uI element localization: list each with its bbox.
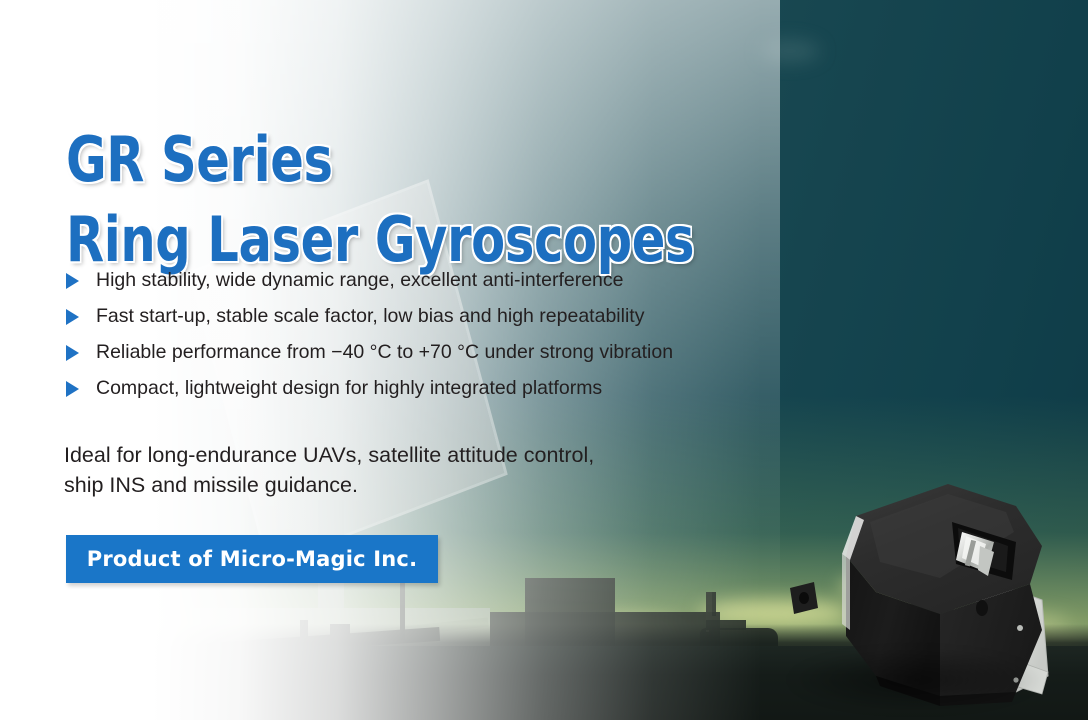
product-of-badge[interactable]: Product of Micro-Magic Inc. <box>66 535 438 583</box>
feature-list: High stability, wide dynamic range, exce… <box>66 268 766 412</box>
application-summary: Ideal for long-endurance UAVs, satellite… <box>64 440 594 500</box>
product-shadow <box>790 648 1040 712</box>
feature-text: Fast start-up, stable scale factor, low … <box>96 304 644 328</box>
product-banner: GR Series Ring Laser Gyroscopes High sta… <box>0 0 1088 720</box>
application-summary-line-2: ship INS and missile guidance. <box>64 473 358 497</box>
product-of-badge-label: Product of Micro-Magic Inc. <box>87 547 418 571</box>
product-image <box>780 480 1088 720</box>
headline-line-1: GR Series <box>66 123 333 196</box>
page-title: GR Series Ring Laser Gyroscopes <box>66 120 694 280</box>
feature-text: Reliable performance from −40 °C to +70 … <box>96 340 673 364</box>
triangle-right-icon <box>66 309 79 325</box>
triangle-right-icon <box>66 273 79 289</box>
triangle-right-icon <box>66 381 79 397</box>
feature-text: High stability, wide dynamic range, exce… <box>96 268 623 292</box>
triangle-right-icon <box>66 345 79 361</box>
feature-text: Compact, lightweight design for highly i… <box>96 376 602 400</box>
list-item: Reliable performance from −40 °C to +70 … <box>66 340 766 376</box>
application-summary-line-1: Ideal for long-endurance UAVs, satellite… <box>64 443 594 467</box>
list-item: Fast start-up, stable scale factor, low … <box>66 304 766 340</box>
list-item: High stability, wide dynamic range, exce… <box>66 268 766 304</box>
list-item: Compact, lightweight design for highly i… <box>66 376 766 412</box>
